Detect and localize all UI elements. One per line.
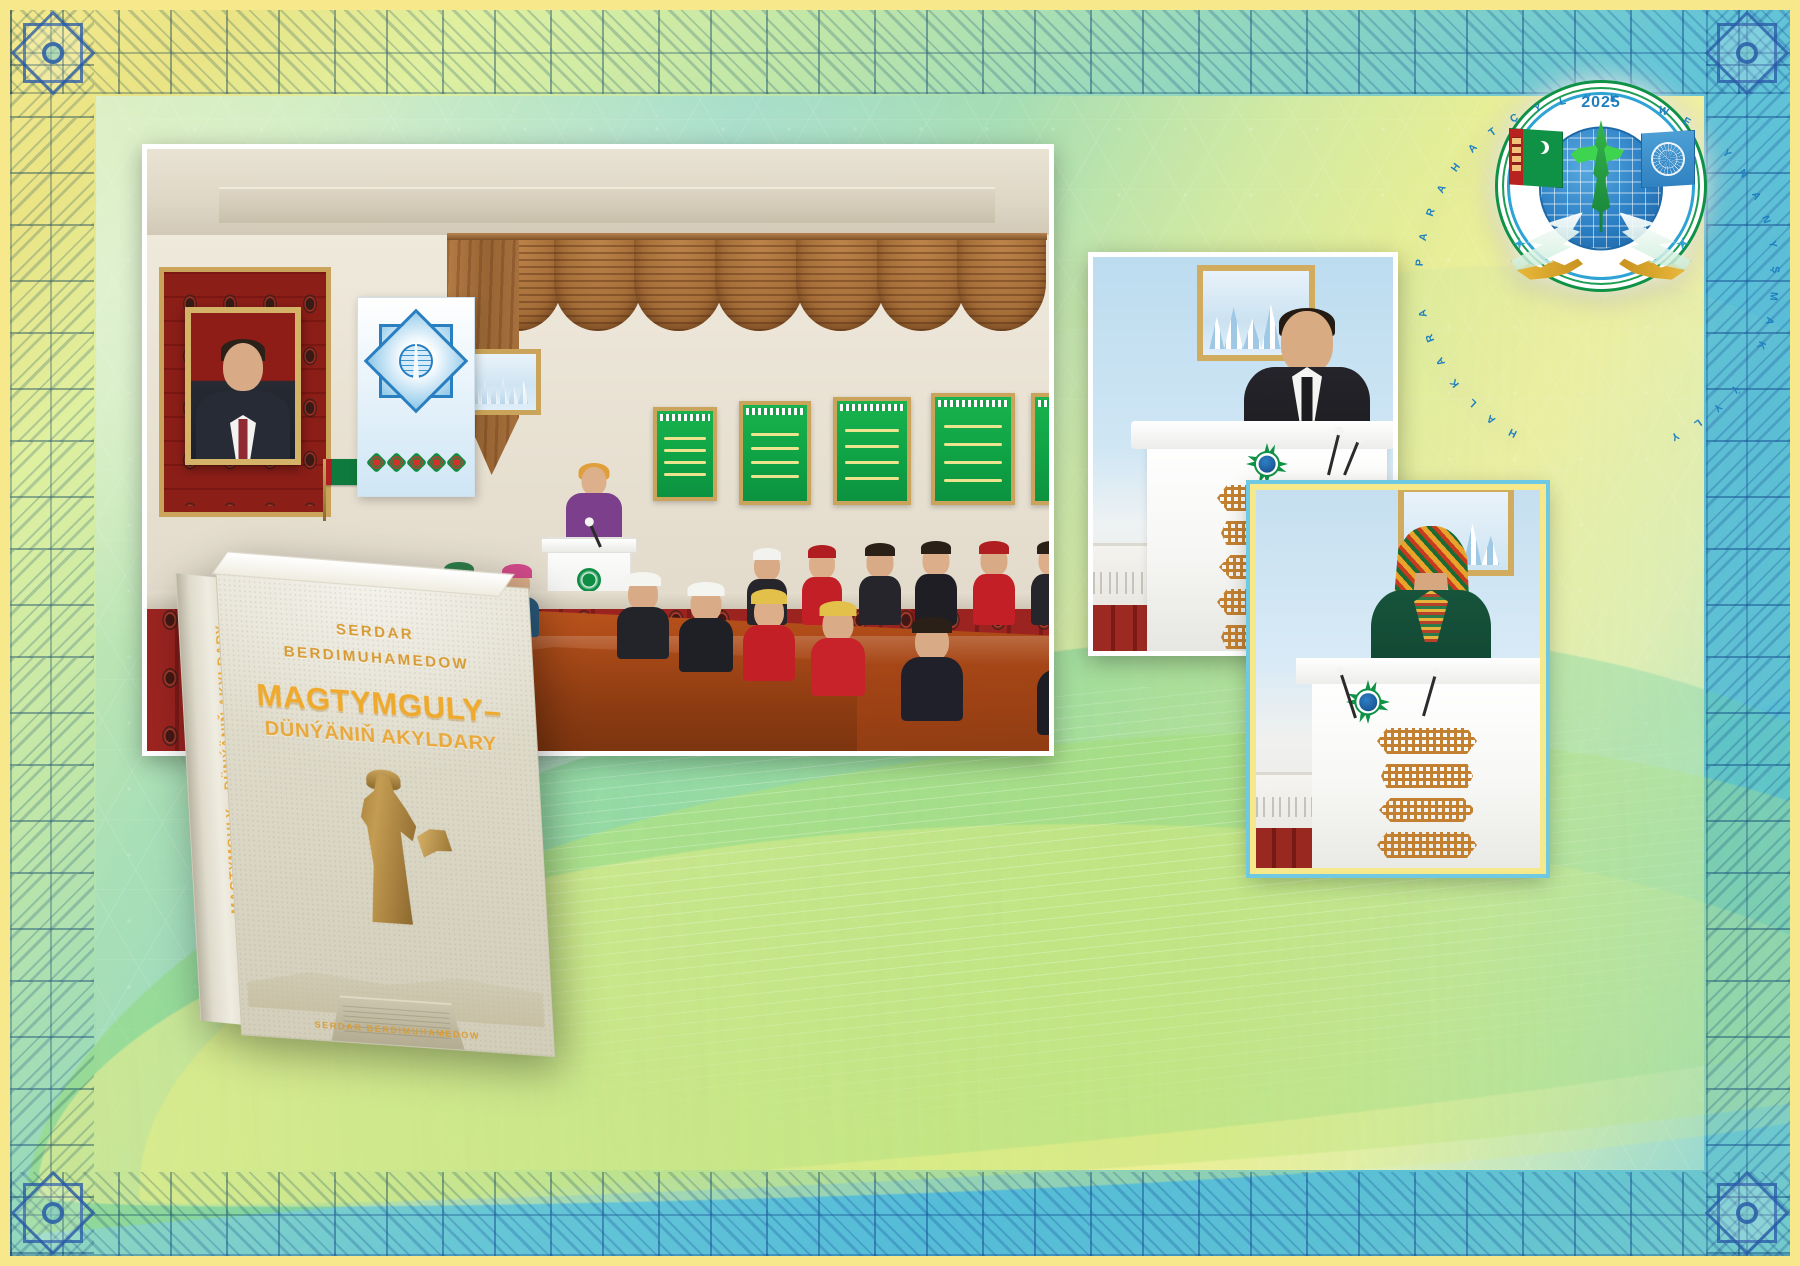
emblem-motto-letter: W [1657, 104, 1671, 119]
seated-participant [1031, 545, 1054, 623]
border-pattern-left [10, 10, 94, 1256]
wall-plaque [1031, 393, 1054, 505]
carpet-gul-motif [1377, 728, 1477, 754]
emblem-motto-letter: M [1767, 291, 1780, 301]
magtymguly-book[interactable]: MAGTYMGULY – DÜNÝÄNIŇ AKYLDARY SERDAR BE… [175, 549, 553, 1038]
carpet-gul-motif [1379, 798, 1475, 822]
border-pattern-bottom [10, 1172, 1790, 1256]
emblem-motto-letter: Ş [1769, 266, 1781, 274]
seated-participant [915, 545, 957, 623]
corner-medallion [1704, 1170, 1790, 1256]
seated-participant [811, 601, 865, 693]
emblem-motto-letter: E [1681, 115, 1693, 129]
turkmenistan-seal-icon [1246, 443, 1288, 485]
united-nations-flag-icon [1641, 130, 1695, 188]
turkmenistan-flag-icon [1509, 128, 1563, 188]
carpet-gul-ornament-strip [1373, 728, 1481, 874]
curtain-valance [477, 235, 1042, 331]
book-author: SERDAR BERDIMUHAMEDOW [218, 609, 533, 682]
seated-participant [679, 583, 733, 669]
carpet-gul-motif [1385, 868, 1469, 874]
book-author-line1: SERDAR [335, 621, 414, 643]
magtymguly-statue-illustration [317, 769, 460, 966]
poster-canvas: MAGTYMGULY – DÜNÝÄNIŇ AKYLDARY SERDAR BE… [0, 0, 1800, 1266]
border-pattern-right [1706, 10, 1790, 1256]
emblem-motto-letter: L [1558, 95, 1567, 108]
wall-plaque [833, 397, 911, 505]
wall-plaque [739, 401, 811, 505]
turkmenistan-seal-icon [1346, 680, 1390, 724]
ceiling [147, 149, 1049, 241]
female-speaker-podium-photo[interactable] [1250, 484, 1546, 874]
emblem-motto-letter: Ç [1508, 111, 1521, 125]
seated-participant [859, 547, 901, 623]
book-author-line2: BERDIMUHAMEDOW [283, 643, 469, 673]
carpet-gul-motif [1381, 764, 1473, 788]
corner-medallion [10, 1170, 96, 1256]
corner-medallion [1704, 10, 1790, 96]
seated-participant [901, 617, 963, 717]
carpet-gul-motif [1377, 832, 1477, 858]
seated-participant [617, 573, 669, 655]
emblem-motto-letter: P [1414, 259, 1426, 267]
corner-medallion [10, 10, 96, 96]
seated-participant [1037, 627, 1054, 731]
institution-roll-up-banner [357, 297, 475, 497]
seated-participant [973, 545, 1015, 623]
emblem-motto-letter: Y [1532, 101, 1543, 115]
wall-plaque [931, 393, 1015, 505]
book-front-cover: SERDAR BERDIMUHAMEDOW MAGTYMGULY– DÜNÝÄN… [215, 566, 555, 1057]
president-portrait [185, 307, 301, 465]
year-2025-emblem[interactable]: 2025 HALKARA PARAHATÇYLYK WE YNANYŞMAK Ý… [1495, 80, 1707, 292]
emblem-year: 2025 [1581, 94, 1621, 112]
seated-participant [743, 589, 795, 677]
turkmenistan-seal-icon [577, 568, 601, 592]
institution-emblem-icon [379, 324, 453, 398]
curtain-pole [447, 233, 1047, 240]
wall-plaque [653, 407, 717, 501]
